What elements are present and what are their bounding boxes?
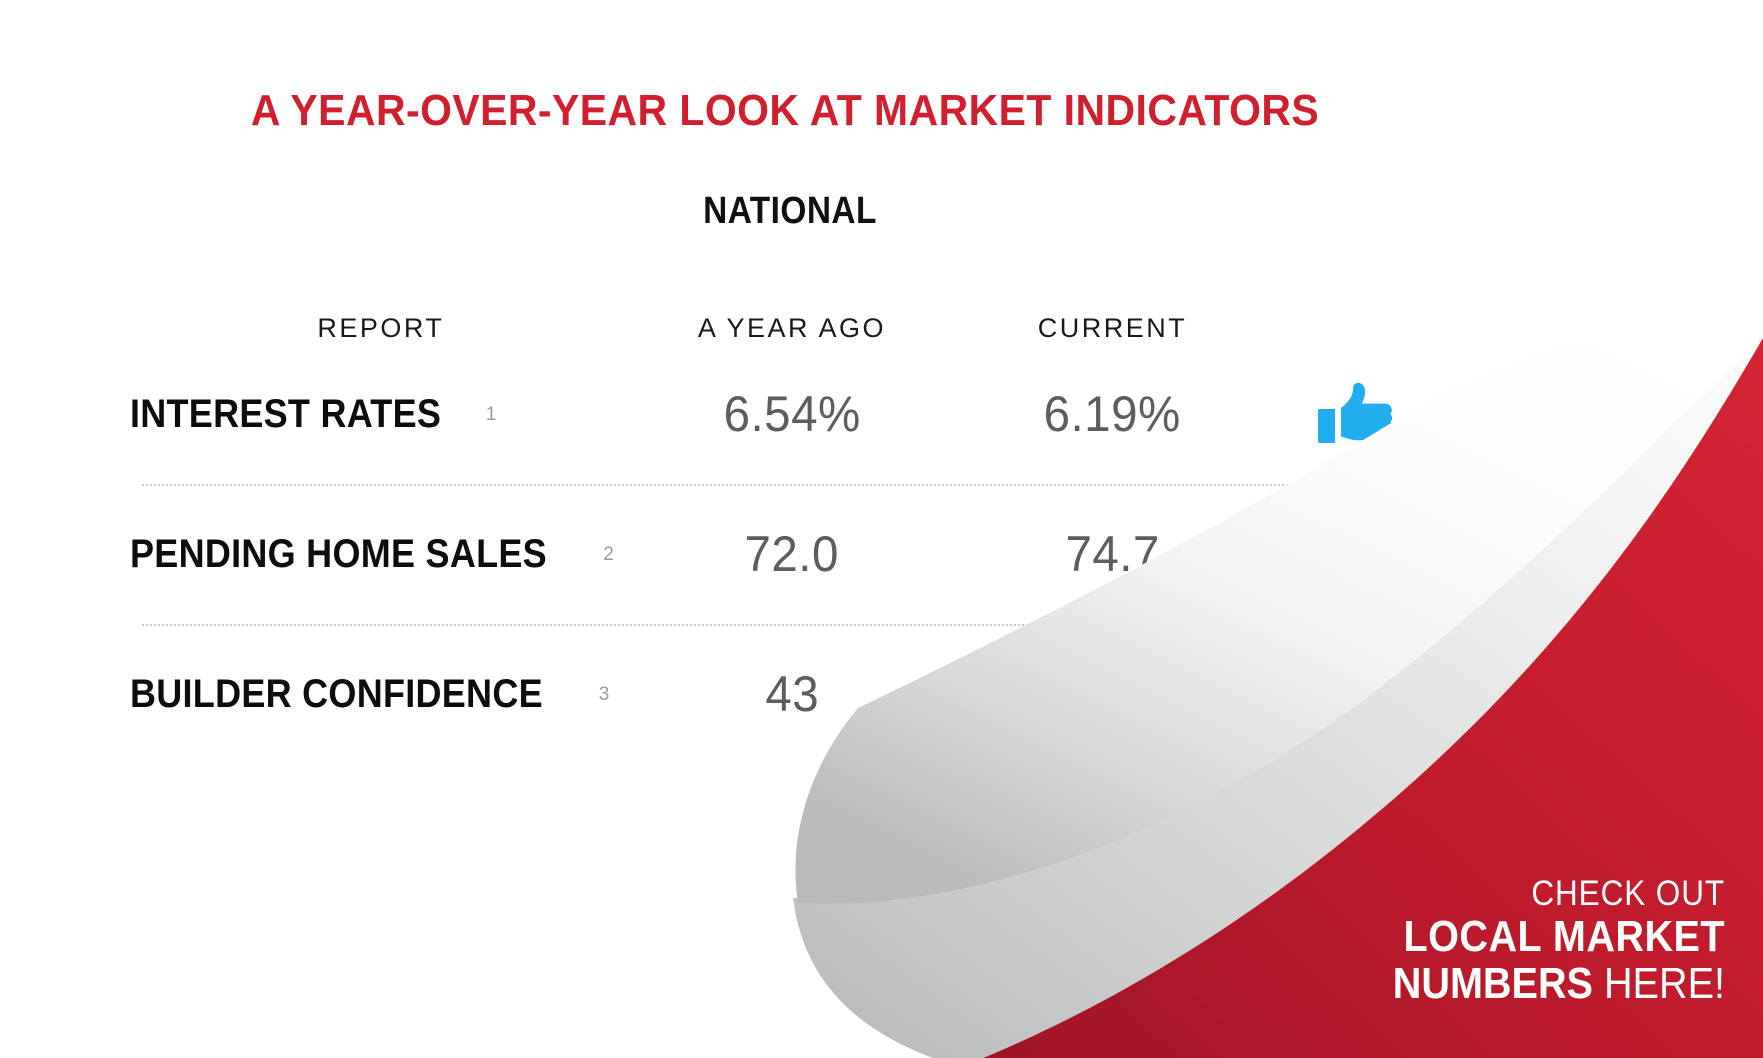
value-year-ago: 72.0 <box>745 525 839 583</box>
footnote-marker: 2 <box>603 544 614 566</box>
column-header-year-ago: A YEAR AGO <box>632 313 953 344</box>
value-year-ago: 6.54% <box>723 385 860 443</box>
market-indicators-table: REPORT A YEAR AGO CURRENT INTEREST RATES… <box>130 292 1440 764</box>
value-year-ago: 43 <box>765 665 819 723</box>
table-row: INTEREST RATES1 6.54% 6.19% <box>130 344 1440 484</box>
page-title: A YEAR-OVER-YEAR LOOK AT MARKET INDICATO… <box>55 86 1515 136</box>
table-row: PENDING HOME SALES2 72.0 74.7 <box>130 484 1440 624</box>
column-header-current: CURRENT <box>952 313 1273 344</box>
cta-here-text: HERE! <box>1604 959 1725 1008</box>
cta-line-check-out: CHECK OUT <box>1338 875 1725 913</box>
report-label: PENDING HOME SALES <box>130 532 547 577</box>
cta-block[interactable]: CHECK OUT LOCAL MARKET NUMBERS HERE! <box>1295 875 1725 1008</box>
row-trend-cell <box>1273 383 1440 445</box>
table-row: BUILDER CONFIDENCE3 43 <box>130 624 1440 764</box>
report-label: BUILDER CONFIDENCE <box>130 672 543 717</box>
footnote-marker: 3 <box>599 684 610 706</box>
row-year-ago-cell: 43 <box>632 665 953 723</box>
row-report-cell: BUILDER CONFIDENCE3 <box>130 672 632 717</box>
thumbs-up-icon <box>1318 523 1394 585</box>
row-report-cell: INTEREST RATES1 <box>130 392 632 437</box>
value-current: 74.7 <box>1065 525 1159 583</box>
slide-canvas: A YEAR-OVER-YEAR LOOK AT MARKET INDICATO… <box>0 0 1763 1058</box>
value-current: 6.19% <box>1044 385 1181 443</box>
row-year-ago-cell: 72.0 <box>632 525 953 583</box>
cta-numbers-text: NUMBERS <box>1393 959 1593 1008</box>
section-header-national: NATIONAL <box>588 190 993 233</box>
row-current-cell: 6.19% <box>952 385 1273 443</box>
cta-line-local-market: LOCAL MARKET <box>1338 913 1725 961</box>
row-year-ago-cell: 6.54% <box>632 385 953 443</box>
row-report-cell: PENDING HOME SALES2 <box>130 532 632 577</box>
report-label: INTEREST RATES <box>130 392 441 437</box>
footnote-marker: 1 <box>486 404 497 426</box>
row-current-cell <box>952 685 1273 703</box>
row-current-cell: 74.7 <box>952 525 1273 583</box>
cta-line-numbers-here: NUMBERS HERE! <box>1338 960 1725 1008</box>
column-header-report: REPORT <box>130 313 632 344</box>
thumbs-up-icon <box>1318 383 1394 445</box>
row-trend-cell <box>1273 523 1440 585</box>
table-header-row: REPORT A YEAR AGO CURRENT <box>130 292 1440 344</box>
